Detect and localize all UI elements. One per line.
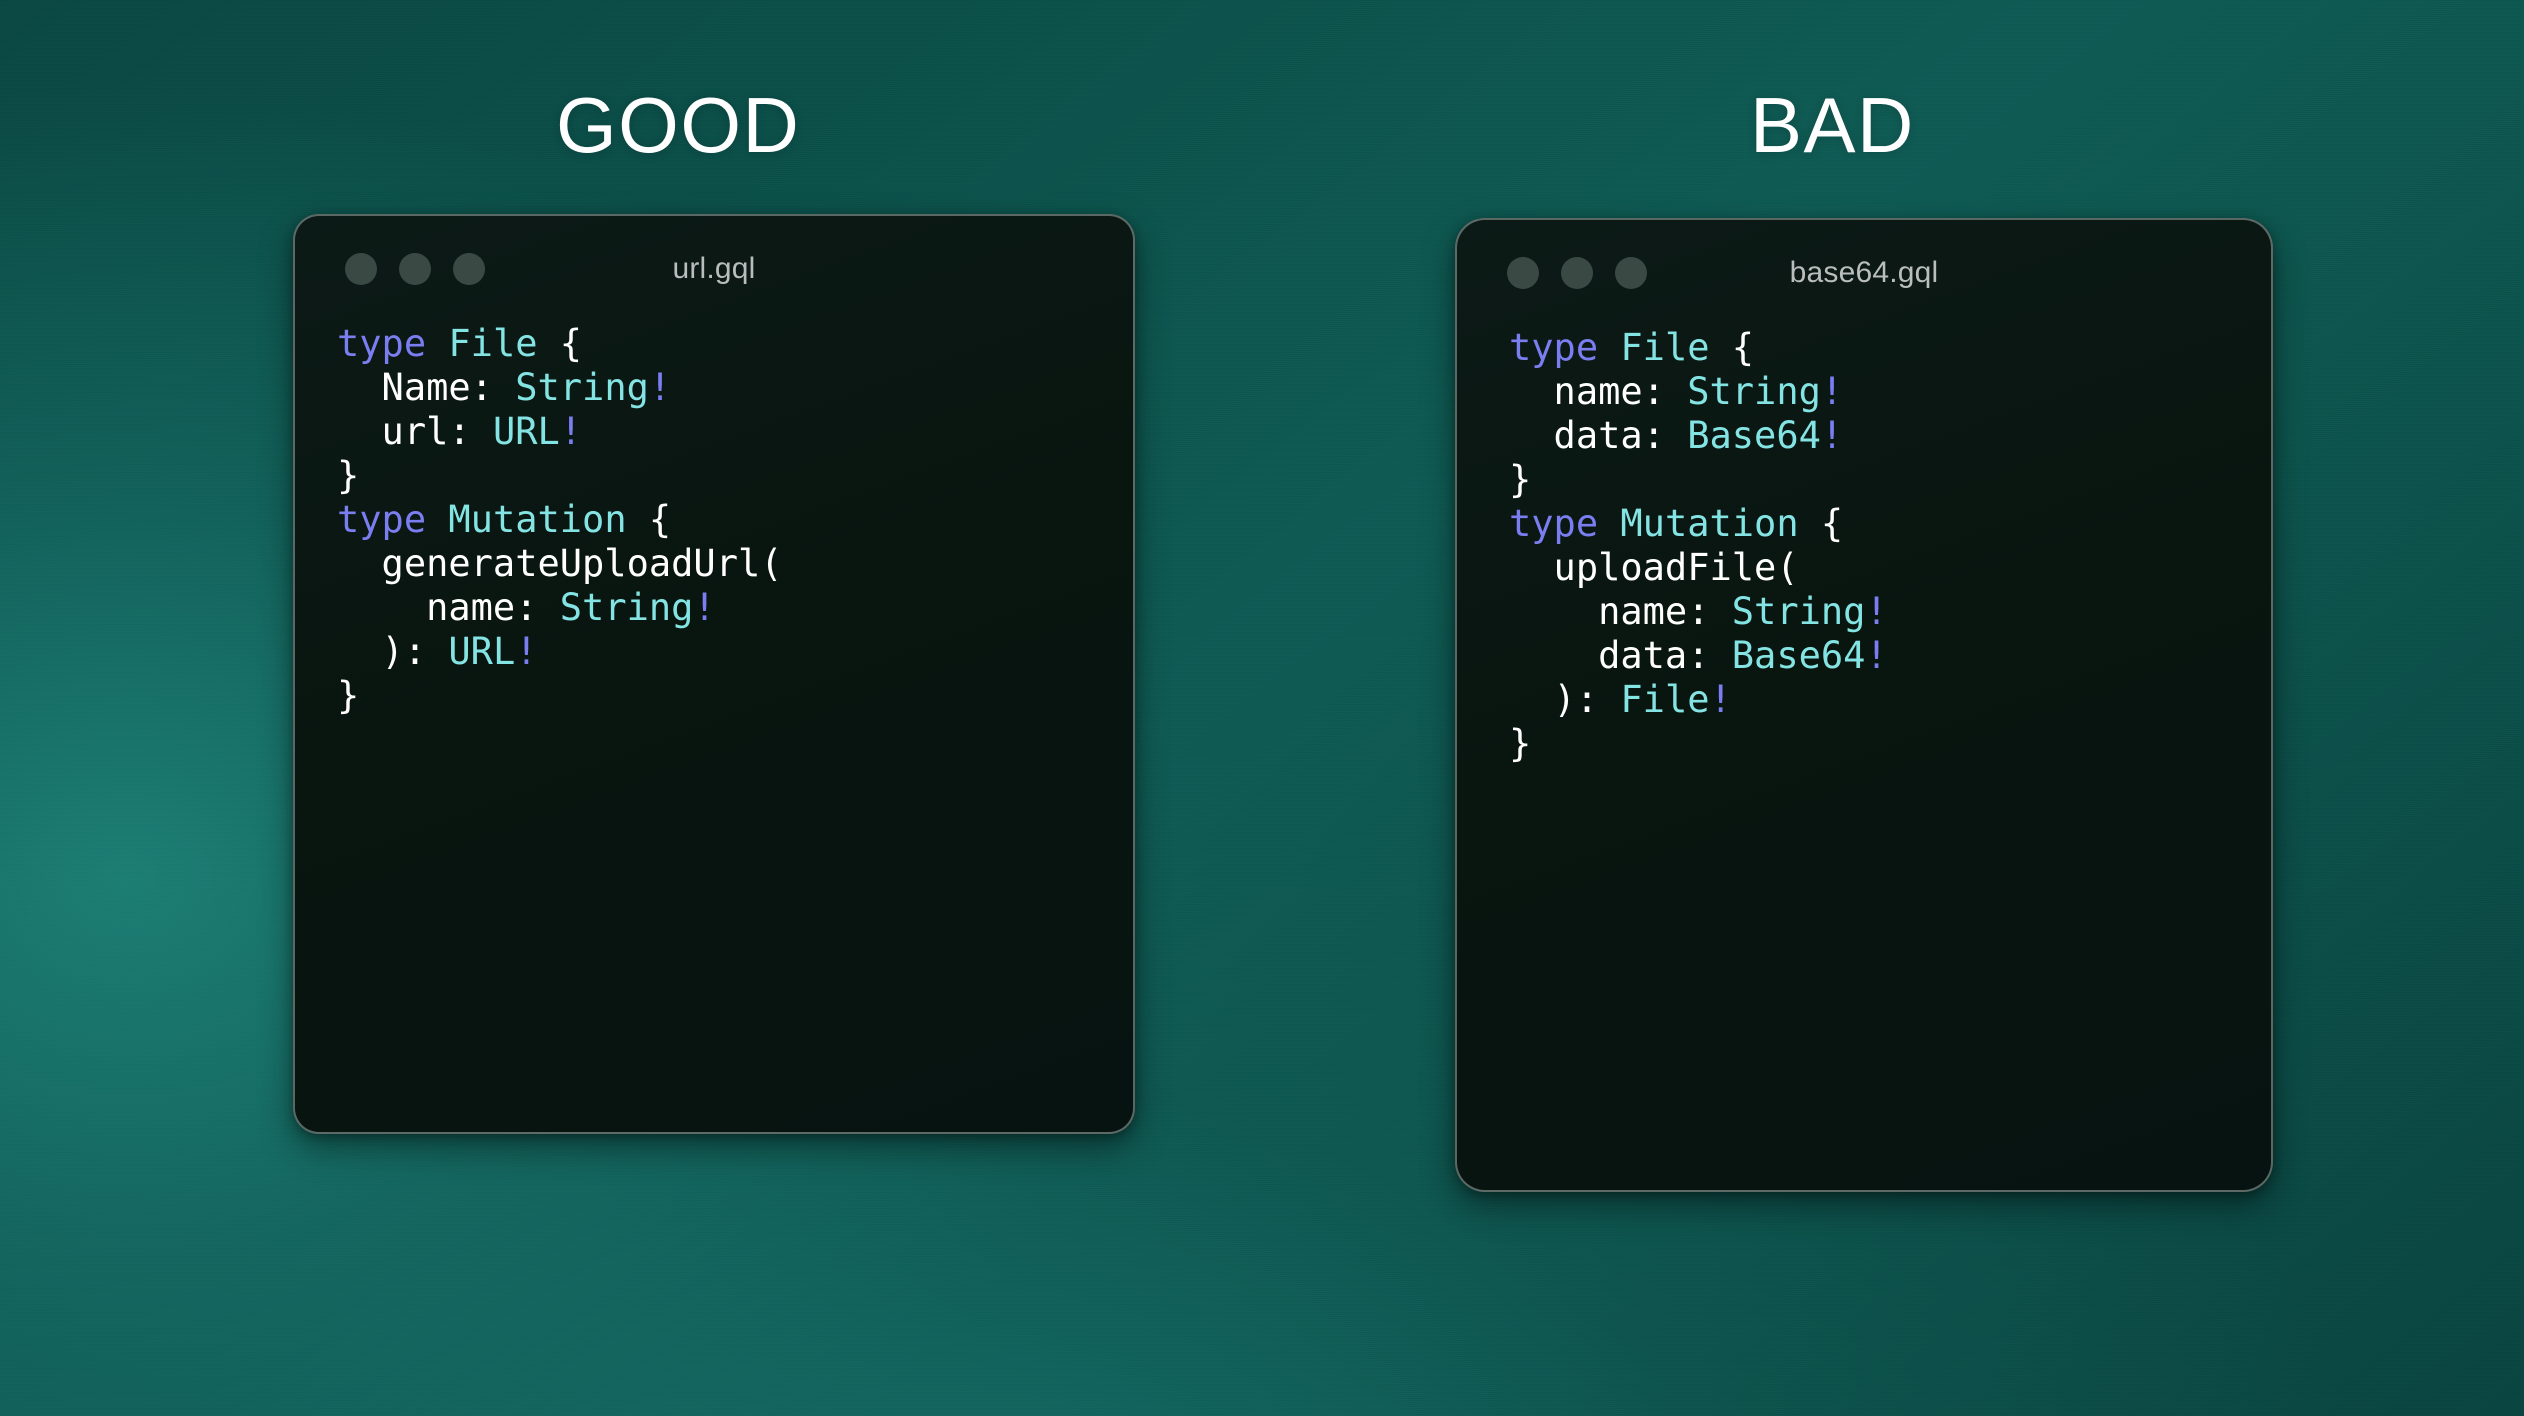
- code-token: [1598, 326, 1620, 369]
- code-token: {: [1799, 502, 1844, 545]
- code-line: url: URL!: [337, 410, 1133, 454]
- code-line: name: String!: [337, 586, 1133, 630]
- code-token: String: [560, 586, 694, 629]
- code-token: url:: [337, 410, 471, 453]
- code-token: [1598, 502, 1620, 545]
- code-line: type Mutation {: [1509, 502, 2271, 546]
- code-token: URL: [493, 410, 560, 453]
- code-line: name: String!: [1509, 370, 2271, 414]
- code-token: [426, 322, 448, 365]
- code-token: !: [1821, 370, 1843, 413]
- code-token: name:: [1509, 590, 1709, 633]
- code-token: [426, 498, 448, 541]
- code-line: }: [1509, 722, 2271, 766]
- code-token: String: [1687, 370, 1821, 413]
- code-token: [1709, 590, 1731, 633]
- code-token: File: [1620, 678, 1709, 721]
- code-token: }: [337, 674, 359, 717]
- code-line: Name: String!: [337, 366, 1133, 410]
- code-token: }: [1509, 722, 1531, 765]
- code-token: String: [515, 366, 649, 409]
- code-token: type: [1509, 502, 1598, 545]
- code-line: name: String!: [1509, 590, 2271, 634]
- code-token: {: [627, 498, 672, 541]
- code-token: URL: [448, 630, 515, 673]
- minimize-dot-icon[interactable]: [399, 253, 431, 285]
- traffic-lights-bad: [1507, 257, 1647, 289]
- code-token: [537, 586, 559, 629]
- titlebar-bad: base64.gql: [1457, 220, 2271, 326]
- code-token: type: [1509, 326, 1598, 369]
- code-token: !: [693, 586, 715, 629]
- code-token: String: [1732, 590, 1866, 633]
- code-line: }: [1509, 458, 2271, 502]
- code-token: File: [448, 322, 537, 365]
- code-token: [1598, 678, 1620, 721]
- code-token: data:: [1509, 634, 1709, 677]
- code-token: !: [1710, 678, 1732, 721]
- heading-bad: BAD: [1750, 86, 1915, 164]
- close-dot-icon[interactable]: [1507, 257, 1539, 289]
- code-line: }: [337, 674, 1133, 718]
- code-line: data: Base64!: [1509, 414, 2271, 458]
- code-token: }: [337, 454, 359, 497]
- code-token: Mutation: [1620, 502, 1798, 545]
- code-token: }: [1509, 458, 1531, 501]
- code-token: !: [1821, 414, 1843, 457]
- code-token: {: [1710, 326, 1755, 369]
- code-line: uploadFile(: [1509, 546, 2271, 590]
- code-line: type Mutation {: [337, 498, 1133, 542]
- code-line: ): URL!: [337, 630, 1133, 674]
- code-token: name:: [1509, 370, 1665, 413]
- code-token: !: [649, 366, 671, 409]
- traffic-lights-good: [345, 253, 485, 285]
- code-token: [471, 410, 493, 453]
- code-token: !: [560, 410, 582, 453]
- code-window-good: url.gql type File { Name: String! url: U…: [293, 214, 1135, 1134]
- code-token: Mutation: [448, 498, 626, 541]
- code-token: generateUploadUrl(: [337, 542, 783, 585]
- code-token: type: [337, 322, 426, 365]
- code-token: ):: [1509, 678, 1598, 721]
- maximize-dot-icon[interactable]: [1615, 257, 1647, 289]
- code-line: generateUploadUrl(: [337, 542, 1133, 586]
- code-line: }: [337, 454, 1133, 498]
- code-token: !: [1865, 590, 1887, 633]
- code-line: data: Base64!: [1509, 634, 2271, 678]
- code-token: [1665, 414, 1687, 457]
- code-token: [426, 630, 448, 673]
- code-token: Base64: [1732, 634, 1866, 677]
- minimize-dot-icon[interactable]: [1561, 257, 1593, 289]
- code-token: type: [337, 498, 426, 541]
- code-line: type File {: [1509, 326, 2271, 370]
- titlebar-good: url.gql: [295, 216, 1133, 322]
- code-line: ): File!: [1509, 678, 2271, 722]
- maximize-dot-icon[interactable]: [453, 253, 485, 285]
- code-token: !: [1865, 634, 1887, 677]
- code-token: name:: [337, 586, 537, 629]
- code-token: File: [1620, 326, 1709, 369]
- close-dot-icon[interactable]: [345, 253, 377, 285]
- code-token: Name:: [337, 366, 493, 409]
- code-token: Base64: [1687, 414, 1821, 457]
- code-token: !: [515, 630, 537, 673]
- heading-good: GOOD: [556, 86, 800, 164]
- code-window-bad: base64.gql type File { name: String! dat…: [1455, 218, 2273, 1192]
- code-block-good: type File { Name: String! url: URL!}type…: [295, 322, 1133, 718]
- code-token: [1709, 634, 1731, 677]
- code-token: {: [538, 322, 583, 365]
- code-line: type File {: [337, 322, 1133, 366]
- code-block-bad: type File { name: String! data: Base64!}…: [1457, 326, 2271, 766]
- code-token: data:: [1509, 414, 1665, 457]
- code-token: ):: [337, 630, 426, 673]
- code-token: [1665, 370, 1687, 413]
- code-token: uploadFile(: [1509, 546, 1799, 589]
- code-token: [493, 366, 515, 409]
